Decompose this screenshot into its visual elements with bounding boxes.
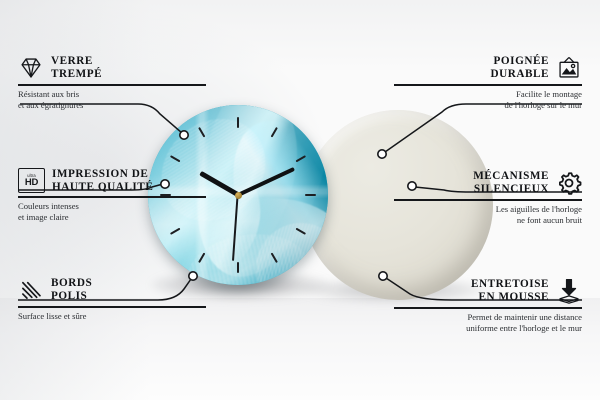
callout-divider bbox=[18, 84, 206, 86]
callout-divider bbox=[394, 307, 582, 309]
arrow-down-pad-icon bbox=[556, 278, 582, 304]
connector-dot-verre-trempe bbox=[180, 131, 188, 139]
callout-subtitle-line2: et aux égratignures bbox=[18, 100, 206, 110]
callout-subtitle-line1: Facilite le montage bbox=[394, 89, 582, 99]
callout-mecanisme-silencieux: MÉCANISME SILENCIEUX Les aiguilles de l'… bbox=[394, 170, 582, 225]
callout-title: IMPRESSION DE HAUTE QUALITÉ bbox=[52, 168, 153, 193]
callout-impression-haute-qualite: ultra HD IMPRESSION DE HAUTE QUALITÉ Cou… bbox=[18, 168, 206, 222]
hanging-frame-icon bbox=[556, 55, 582, 81]
gear-icon bbox=[556, 170, 582, 196]
callout-title: ENTRETOISE EN MOUSSE bbox=[471, 278, 549, 303]
diamond-icon bbox=[18, 55, 44, 81]
callout-subtitle-line2: ne font aucun bruit bbox=[394, 215, 582, 225]
callout-subtitle-line2: uniforme entre l'horloge et le mur bbox=[394, 323, 582, 333]
ultra-hd-icon: ultra HD bbox=[18, 168, 45, 193]
diagonal-lines-icon bbox=[18, 277, 44, 303]
connector-dot-entretoise bbox=[379, 272, 387, 280]
callout-header: POIGNÉE DURABLE bbox=[394, 55, 582, 81]
callout-divider bbox=[18, 196, 206, 198]
connector-dot-poignee bbox=[378, 150, 386, 158]
callout-subtitle-line1: Couleurs intenses bbox=[18, 201, 206, 211]
callout-divider bbox=[394, 84, 582, 86]
ultra-hd-big-text: HD bbox=[25, 178, 38, 188]
callout-subtitle-line1: Les aiguilles de l'horloge bbox=[394, 204, 582, 214]
callout-poignee-durable: POIGNÉE DURABLE Facilite le montage de l… bbox=[394, 55, 582, 110]
callout-title: POIGNÉE DURABLE bbox=[490, 55, 549, 80]
callout-divider bbox=[18, 306, 206, 308]
callout-title: MÉCANISME SILENCIEUX bbox=[473, 170, 549, 195]
callout-header: ENTRETOISE EN MOUSSE bbox=[394, 278, 582, 304]
callout-divider bbox=[394, 199, 582, 201]
clock-center-hub bbox=[235, 192, 242, 199]
callout-entretoise-en-mousse: ENTRETOISE EN MOUSSE Permet de maintenir… bbox=[394, 278, 582, 333]
leader-line-poignee bbox=[385, 104, 582, 152]
callout-subtitle-line1: Résistant aux bris bbox=[18, 89, 206, 99]
callout-header: BORDS POLIS bbox=[18, 277, 206, 303]
callout-title: VERRE TREMPÉ bbox=[51, 55, 102, 80]
callout-subtitle-line1: Surface lisse et sûre bbox=[18, 311, 206, 321]
callout-header: ultra HD IMPRESSION DE HAUTE QUALITÉ bbox=[18, 168, 206, 193]
callout-header: MÉCANISME SILENCIEUX bbox=[394, 170, 582, 196]
callout-verre-trempe: VERRE TREMPÉ Résistant aux bris et aux é… bbox=[18, 55, 206, 110]
callout-header: VERRE TREMPÉ bbox=[18, 55, 206, 81]
callout-subtitle-line2: de l'horloge sur le mur bbox=[394, 100, 582, 110]
infographic-canvas: AA 1.5V bbox=[0, 0, 600, 400]
callout-subtitle-line2: et image claire bbox=[18, 212, 206, 222]
callout-bords-polis: BORDS POLIS Surface lisse et sûre bbox=[18, 277, 206, 322]
callout-subtitle-line1: Permet de maintenir une distance bbox=[394, 312, 582, 322]
callout-title: BORDS POLIS bbox=[51, 277, 92, 302]
